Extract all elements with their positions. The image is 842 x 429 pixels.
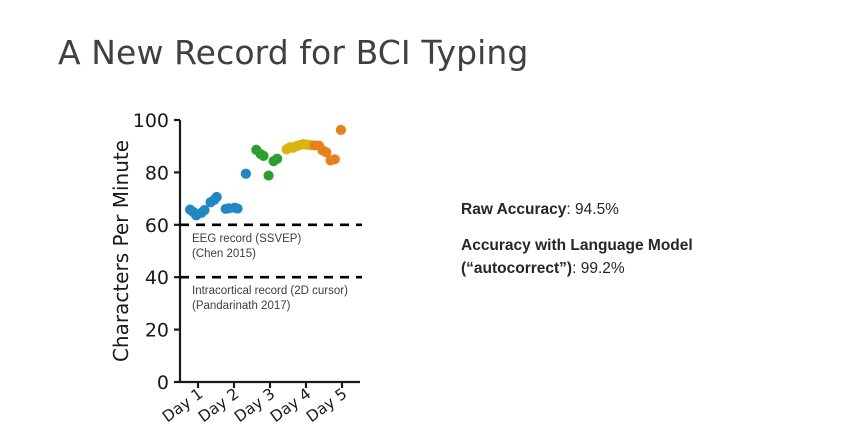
data-point [233,203,243,213]
bci-typing-scatter-chart: 020406080100Day 1Day 2Day 3Day 4Day 5Cha… [108,100,408,429]
chart-svg: 020406080100Day 1Day 2Day 3Day 4Day 5Cha… [108,100,408,429]
x-tick-label-4: Day 4 [267,385,314,426]
y-tick-label-0: 0 [157,372,169,394]
accuracy-stats-block: Raw Accuracy: 94.5% Accuracy with Langua… [461,199,801,294]
x-tick-label-3: Day 3 [231,385,278,426]
data-point [241,169,251,179]
lm-accuracy-line: Accuracy with Language Model (“autocorre… [461,235,801,280]
data-point [330,154,340,164]
y-tick-label-60: 60 [145,215,169,237]
lm-accuracy-value: : 99.2% [572,260,625,277]
data-point [272,154,282,164]
raw-accuracy-value: : 94.5% [566,201,619,218]
reference-label-60-line1: EEG record (SSVEP) [192,233,301,245]
series-day-1 [185,192,222,221]
y-tick-label-100: 100 [133,110,169,132]
series-day-2 [221,169,251,214]
raw-accuracy-label: Raw Accuracy [461,201,566,218]
y-tick-label-40: 40 [145,267,169,289]
data-point [212,192,222,202]
series-day-3 [251,145,282,181]
x-tick-label-2: Day 2 [195,385,242,426]
reference-label-40-line1: Intracortical record (2D cursor) [192,285,348,297]
data-point [258,151,268,161]
y-tick-label-80: 80 [145,162,169,184]
slide-canvas: A New Record for BCI Typing 020406080100… [0,0,842,429]
data-point [263,170,273,180]
reference-label-60-line2: (Chen 2015) [192,248,256,260]
page-title: A New Record for BCI Typing [58,33,528,72]
series-day-5 [310,125,346,166]
raw-accuracy-line: Raw Accuracy: 94.5% [461,199,801,221]
reference-label-40-line2: (Pandarinath 2017) [192,300,291,312]
y-axis-label: Characters Per Minute [109,140,133,362]
data-point [336,125,346,135]
y-tick-label-20: 20 [145,320,169,342]
x-tick-label-5: Day 5 [303,385,350,426]
